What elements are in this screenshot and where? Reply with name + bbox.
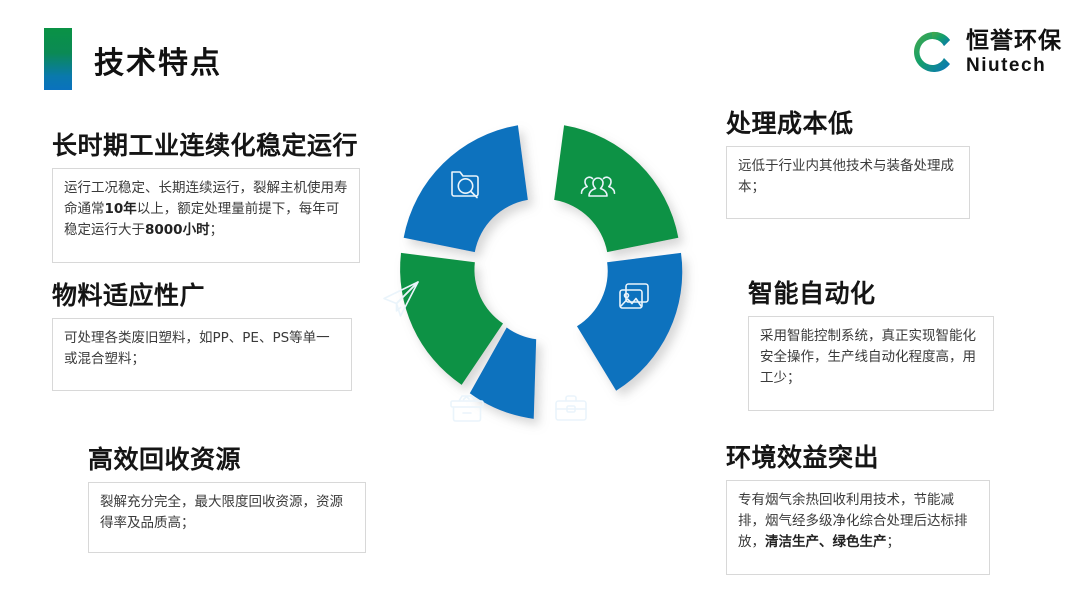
archive-box-icon — [451, 396, 483, 421]
feature-material: 物料适应性广 可处理各类废旧塑料，如PP、PE、PS等单一或混合塑料； — [52, 276, 352, 391]
title-accent-bar — [44, 28, 72, 90]
donut-segment-top-right[interactable] — [552, 125, 684, 256]
feature-body: 裂解充分完全，最大限度回收资源，资源得率及品质高； — [88, 482, 366, 553]
ring-logo-icon — [906, 26, 958, 78]
feature-title: 智能自动化 — [748, 274, 994, 310]
feature-title: 环境效益突出 — [726, 438, 990, 474]
feature-env: 环境效益突出 专有烟气余热回收利用技术，节能减排，烟气经多级净化综合处理后达标排… — [726, 438, 990, 575]
donut-segment-top-left[interactable] — [398, 125, 530, 256]
feature-title: 长时期工业连续化稳定运行 — [52, 126, 360, 162]
donut-segment-right[interactable] — [575, 249, 683, 393]
feature-body: 专有烟气余热回收利用技术，节能减排，烟气经多级净化综合处理后达标排放，清洁生产、… — [726, 480, 990, 575]
feature-title: 物料适应性广 — [52, 276, 352, 312]
feature-auto: 智能自动化 采用智能控制系统，真正实现智能化安全操作，生产线自动化程度高，用工少… — [748, 274, 994, 411]
feature-cost: 处理成本低 远低于行业内其他技术与装备处理成本； — [726, 104, 970, 219]
donut-diagram — [358, 96, 724, 462]
feature-body: 远低于行业内其他技术与装备处理成本； — [726, 146, 970, 219]
slide-root: 技术特点 恒誉环保 Niutech 长时期工业连续化稳定运行 运 — [0, 0, 1080, 608]
feature-title: 高效回收资源 — [88, 440, 366, 476]
page-title: 技术特点 — [94, 38, 222, 82]
feature-body: 可处理各类废旧塑料，如PP、PE、PS等单一或混合塑料； — [52, 318, 352, 391]
feature-body: 运行工况稳定、长期连续运行，裂解主机使用寿命通常10年以上，额定处理量前提下，每… — [52, 168, 360, 263]
feature-title: 处理成本低 — [726, 104, 970, 140]
logo-name-cn: 恒誉环保 — [966, 30, 1062, 53]
feature-longterm: 长时期工业连续化稳定运行 运行工况稳定、长期连续运行，裂解主机使用寿命通常10年… — [52, 126, 360, 263]
feature-recycle: 高效回收资源 裂解充分完全，最大限度回收资源，资源得率及品质高； — [88, 440, 366, 553]
logo-name-en: Niutech — [966, 56, 1062, 75]
donut-segment-bottom-right[interactable] — [531, 337, 599, 423]
briefcase-icon — [556, 396, 586, 420]
feature-body: 采用智能控制系统，真正实现智能化安全操作，生产线自动化程度高，用工少； — [748, 316, 994, 411]
company-logo: 恒誉环保 Niutech — [906, 26, 1062, 78]
